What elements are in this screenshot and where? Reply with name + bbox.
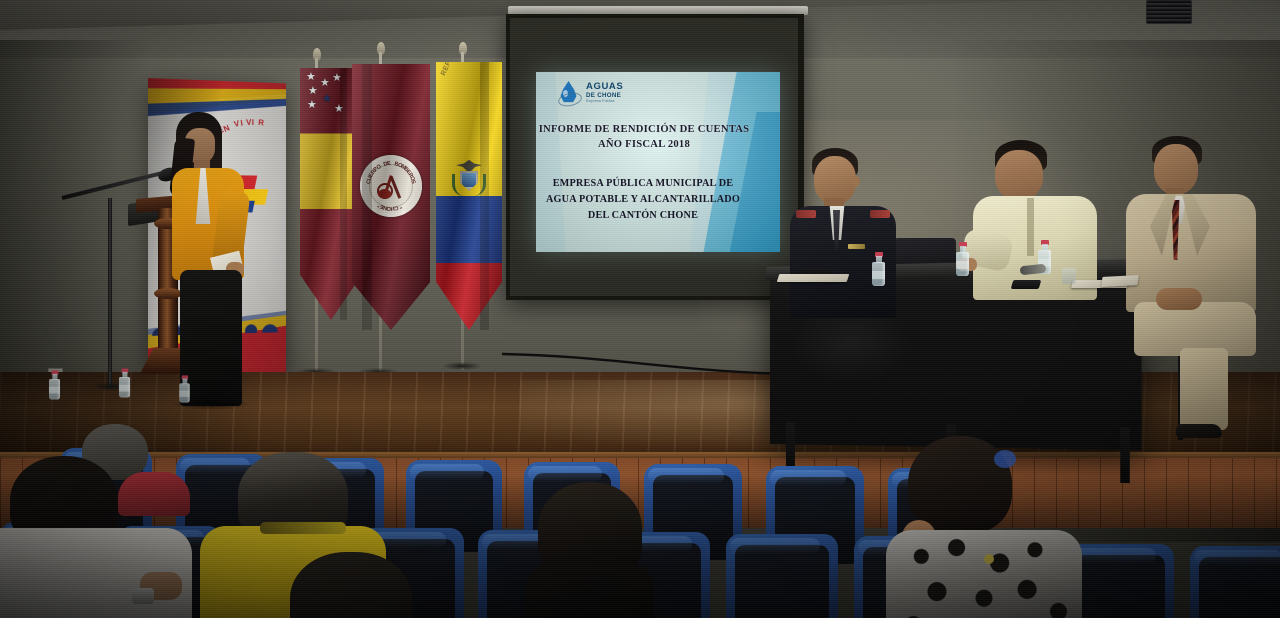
officer-face — [814, 156, 856, 204]
attendee-head — [290, 552, 412, 618]
officer-ear — [852, 176, 860, 187]
hair-tie — [994, 450, 1016, 468]
flag-ecuador: REPÚBLICA — [436, 62, 502, 330]
officer-epaulette — [870, 210, 890, 218]
logo-ring-icon — [557, 91, 583, 109]
water-bottle — [872, 252, 885, 286]
bottle-label — [49, 387, 60, 394]
slide-title-line-2: AÑO FISCAL 2018 — [536, 137, 752, 152]
wall-shadow-left — [0, 40, 150, 420]
water-bottle — [119, 369, 130, 398]
seat-highlight — [730, 538, 820, 554]
seat[interactable] — [726, 534, 838, 618]
seat-highlight — [770, 470, 846, 486]
air-vent-grille — [1146, 0, 1192, 24]
slide-body: EMPRESA PÚBLICA MUNICIPAL DE AGUA POTABL… — [540, 176, 746, 223]
banner-stripe-red — [148, 78, 286, 109]
water-bottle — [179, 375, 189, 402]
aguas-de-chone-logo: AGUAS DE CHONE Empresa Pública — [560, 81, 623, 105]
blouse-ornament — [984, 554, 994, 564]
attendee-white-shirt — [0, 456, 220, 618]
water-bottle — [49, 371, 60, 400]
wristwatch — [132, 588, 154, 604]
panelist3-face — [1154, 144, 1198, 194]
panelist-tan-suit — [1128, 136, 1260, 416]
panelist3-clasped-hands — [1156, 288, 1202, 310]
seat-cushion — [735, 545, 829, 618]
slide-body-line-2: AGUA POTABLE Y ALCANTARILLADO — [540, 192, 746, 208]
attendee-body — [526, 562, 654, 618]
slide-title: INFORME DE RENDICIÓN DE CUENTAS AÑO FISC… — [536, 122, 752, 153]
flag-base-shadow — [442, 362, 482, 370]
attendee-leopard-blouse — [876, 436, 1106, 618]
slide-title-line-1: INFORME DE RENDICIÓN DE CUENTAS — [536, 122, 752, 137]
polo-collar — [260, 522, 346, 534]
flag-sheen — [436, 62, 502, 330]
panelist2-face — [995, 150, 1043, 200]
bottle-label — [872, 271, 885, 279]
documents — [1101, 275, 1139, 287]
attendee-head — [908, 436, 1012, 534]
seat-highlight — [1194, 550, 1280, 566]
auditorium-scene: AGUAS DE CHONE Empresa Pública INFORME D… — [0, 0, 1280, 618]
officer-badge — [848, 244, 865, 249]
mobile-phone — [1011, 280, 1042, 289]
screen-surface: AGUAS DE CHONE Empresa Pública INFORME D… — [510, 18, 798, 296]
documents — [777, 274, 850, 282]
flag-bomberos: CUERPO DE BOMBEROS "CHONE" — [352, 64, 430, 330]
presentation-slide: AGUAS DE CHONE Empresa Pública INFORME D… — [536, 72, 780, 252]
projection-screen: AGUAS DE CHONE Empresa Pública INFORME D… — [506, 14, 804, 300]
microphone-stand — [108, 198, 112, 388]
slide-body-line-1: EMPRESA PÚBLICA MUNICIPAL DE — [540, 176, 746, 192]
seat-highlight — [410, 464, 484, 480]
seat[interactable] — [1190, 546, 1280, 618]
logo-subtitle: DE CHONE — [586, 93, 623, 99]
logo-name: AGUAS — [586, 82, 623, 92]
drinking-glass — [1062, 268, 1076, 284]
seat-highlight — [528, 466, 602, 482]
speaker-at-podium — [168, 112, 272, 402]
attendee-dark-head-front — [290, 552, 420, 618]
attendee-dark-head-center — [530, 482, 660, 618]
panelist-officer — [790, 148, 896, 318]
panelist2-placket — [1027, 198, 1034, 256]
bottle-label — [179, 391, 189, 397]
seat-cushion — [1199, 557, 1280, 618]
flag-sheen — [352, 64, 430, 330]
bottle-label — [119, 385, 130, 392]
panelist3-leg — [1180, 348, 1228, 430]
attendee-leopard-top — [886, 530, 1082, 618]
water-bottle — [956, 242, 969, 276]
officer-epaulette — [796, 210, 816, 218]
bottle-label — [956, 261, 969, 269]
slide-body-line-3: DEL CANTÓN CHONE — [540, 208, 746, 224]
logo-tagline: Empresa Pública — [586, 100, 623, 103]
auditorium-audience — [0, 430, 1280, 618]
